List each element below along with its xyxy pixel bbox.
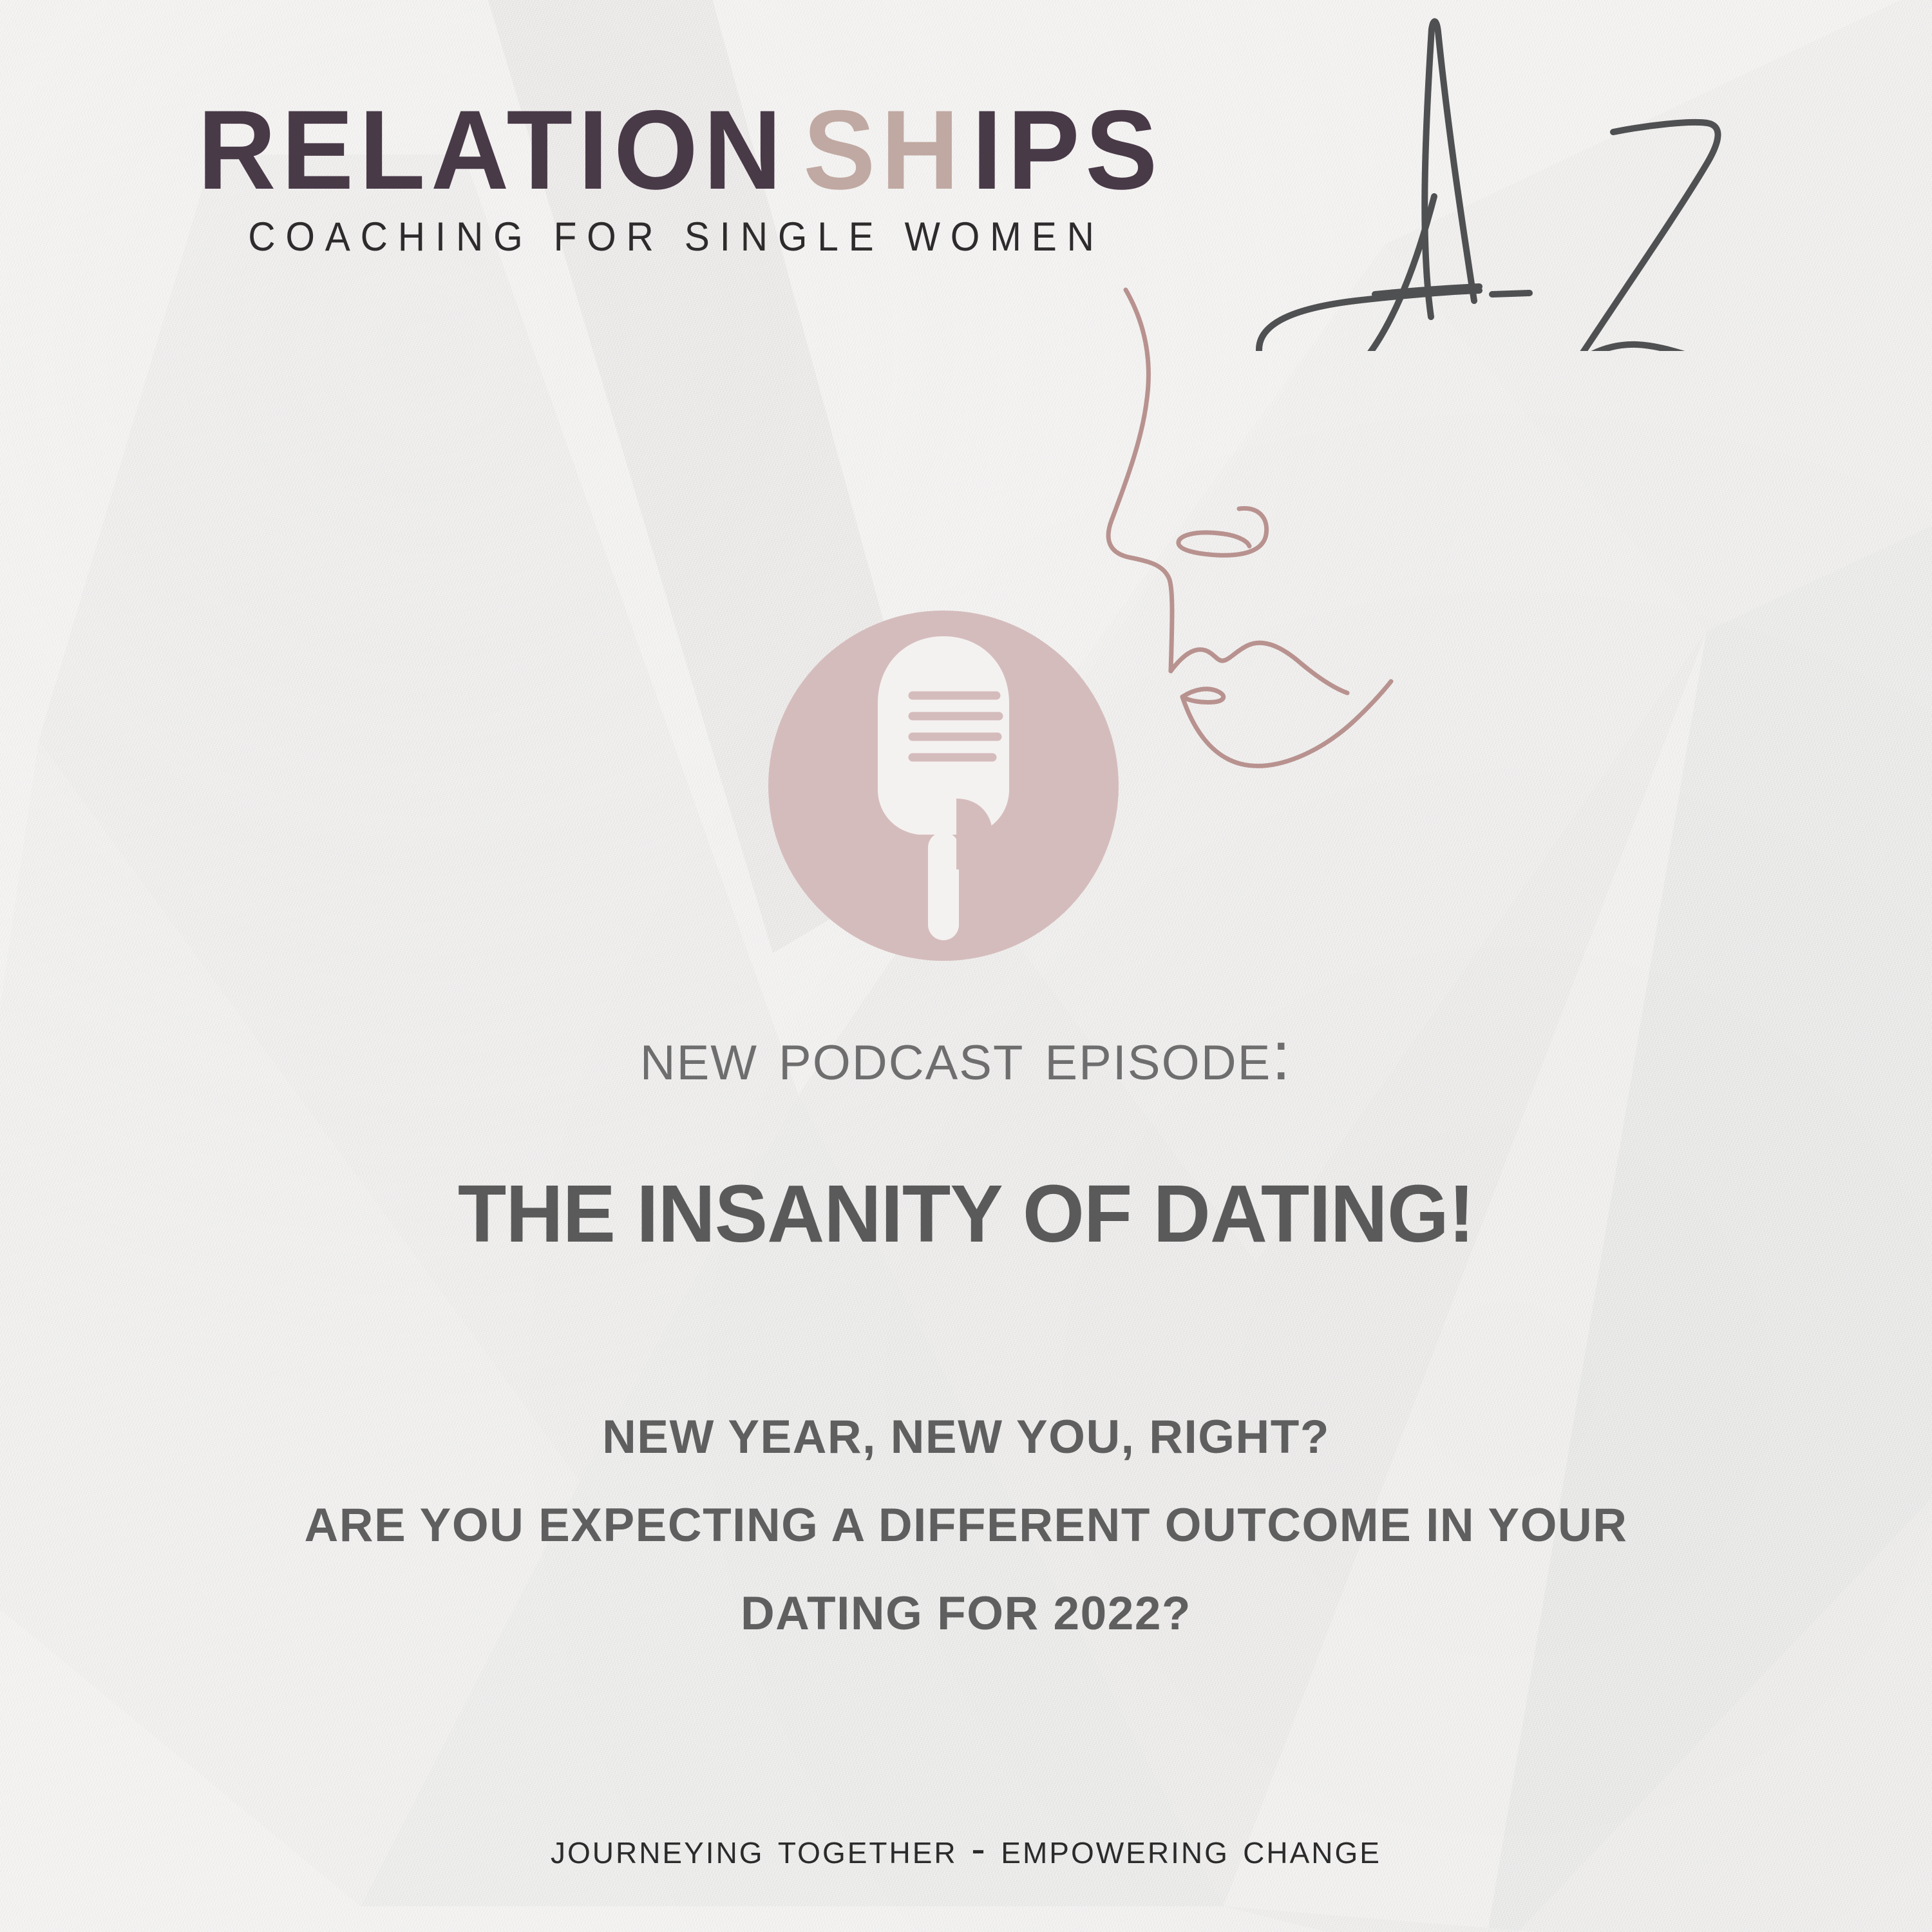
wordmark-row: RELATIONSHIPS bbox=[0, 97, 1352, 205]
eyebrow-label: New Podcast Episode: bbox=[0, 1018, 1932, 1094]
podcast-episode-graphic: RELATIONSHIPS COACHING FOR SINGLE WOMEN bbox=[0, 0, 1932, 1932]
subtitle-line-2: ARE YOU EXPECTING A DIFFERENT OUTCOME IN… bbox=[0, 1481, 1932, 1569]
wordmark-relation: RELATION bbox=[198, 97, 787, 205]
brand-tagline: COACHING FOR SINGLE WOMEN bbox=[48, 214, 1305, 260]
footer-tagline: Journeying Together - Empowering Change bbox=[0, 1824, 1932, 1873]
episode-subtitle: NEW YEAR, NEW YOU, RIGHT? ARE YOU EXPECT… bbox=[0, 1393, 1932, 1658]
wordmark-sh: SH bbox=[803, 97, 965, 205]
wordmark-ips: IPS bbox=[972, 97, 1163, 205]
episode-text-block: New Podcast Episode: THE INSANITY OF DAT… bbox=[0, 1018, 1932, 1658]
subtitle-line-3: DATING FOR 2022? bbox=[0, 1569, 1932, 1658]
episode-headline: THE INSANITY OF DATING! bbox=[19, 1173, 1913, 1255]
subtitle-line-1: NEW YEAR, NEW YOU, RIGHT? bbox=[0, 1393, 1932, 1481]
microphone-badge bbox=[763, 605, 1124, 966]
brand-logo: RELATIONSHIPS COACHING FOR SINGLE WOMEN bbox=[0, 97, 1352, 260]
